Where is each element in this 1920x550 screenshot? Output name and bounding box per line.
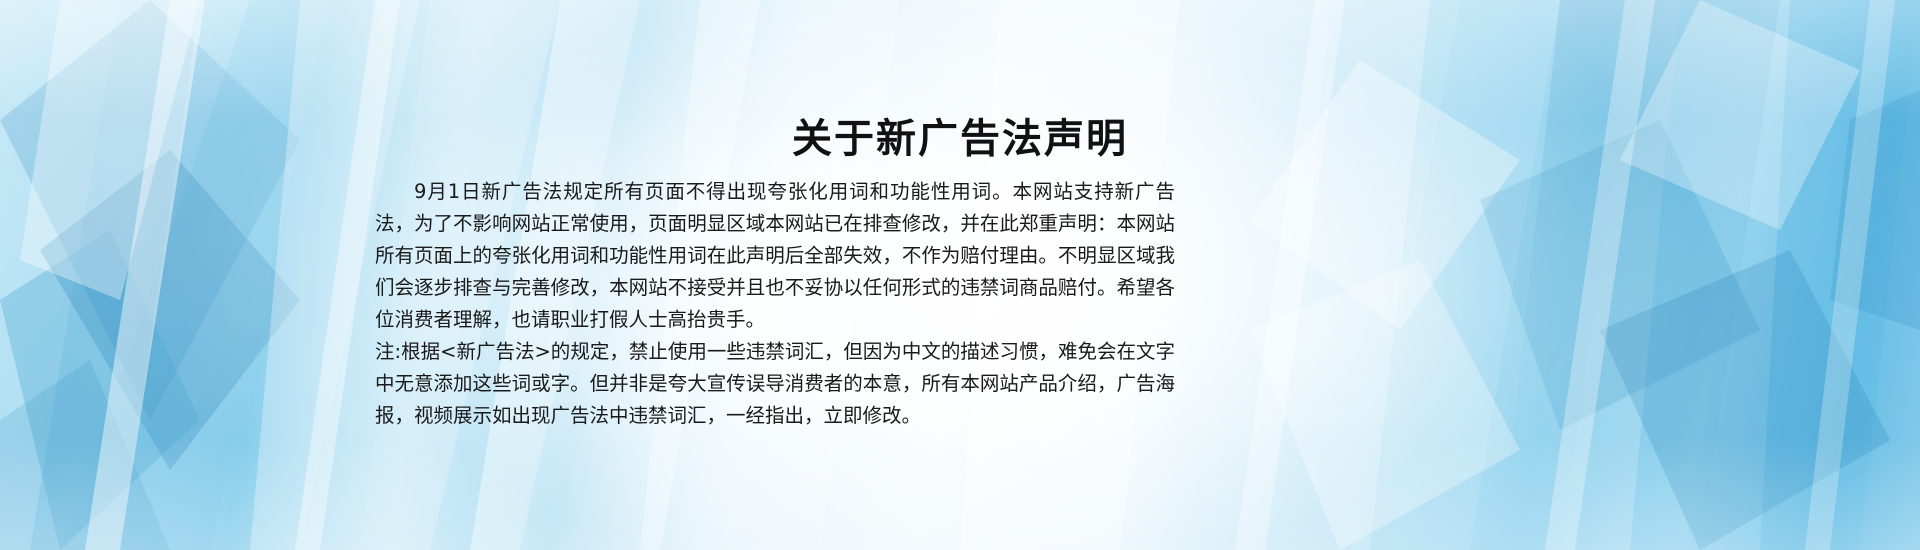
- statement-body: 9月1日新广告法规定所有页面不得出现夸张化用词和功能性用词。本网站支持新广告法，…: [375, 176, 1175, 432]
- statement-paragraph-1: 9月1日新广告法规定所有页面不得出现夸张化用词和功能性用词。本网站支持新广告法，…: [375, 176, 1175, 336]
- page-title: 关于新广告法声明: [0, 115, 1920, 163]
- statement-content: 关于新广告法声明 9月1日新广告法规定所有页面不得出现夸张化用词和功能性用词。本…: [0, 0, 1920, 550]
- advertising-law-statement-banner: 关于新广告法声明 9月1日新广告法规定所有页面不得出现夸张化用词和功能性用词。本…: [0, 0, 1920, 550]
- statement-paragraph-2: 注:根据<新广告法>的规定，禁止使用一些违禁词汇，但因为中文的描述习惯，难免会在…: [375, 336, 1175, 432]
